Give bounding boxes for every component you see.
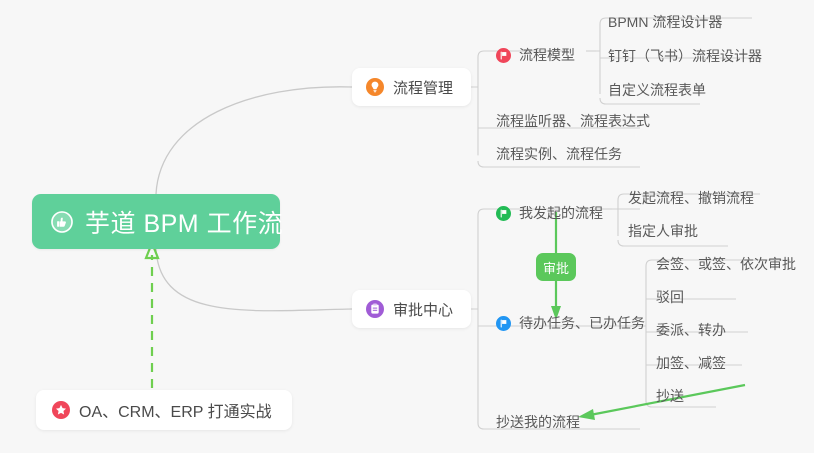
edge-lg-spine [472,57,478,155]
flag-icon [496,48,511,63]
node-label: 驳回 [656,287,684,307]
edge-sz-spine [472,215,478,423]
node-label: 加签、减签 [656,353,726,373]
node-label: 流程实例、流程任务 [496,144,622,164]
node-cc[interactable]: 抄送 [648,383,692,409]
branch-label: 流程管理 [393,77,453,98]
node-label: 抄送我的流程 [496,412,580,432]
node-custom-form[interactable]: 自定义流程表单 [600,77,714,103]
approve-badge: 审批 [536,253,576,281]
node-label: 委派、转办 [656,320,726,340]
node-liucheng-jiantingqi[interactable]: 流程监听器、流程表达式 [488,108,658,134]
node-my-initiated[interactable]: 我发起的流程 [492,200,611,226]
node-label: 发起流程、撤销流程 [628,188,754,208]
node-liucheng-shili[interactable]: 流程实例、流程任务 [488,141,630,167]
node-dingding-designer[interactable]: 钉钉（飞书）流程设计器 [600,43,770,69]
flag-icon [496,316,511,331]
node-label: 抄送 [656,386,684,406]
node-liucheng-moxing[interactable]: 流程模型 [492,42,583,68]
node-label: 待办任务、已办任务 [519,313,645,333]
node-label: 流程模型 [519,45,575,65]
node-label: 自定义流程表单 [608,80,706,100]
branch-liucheng-guanli[interactable]: 流程管理 [352,68,471,106]
branch-shenpi-zhongxin[interactable]: 审批中心 [352,290,471,328]
edge-root-to-shenpi-zhongxin [156,249,352,311]
thumbs-up-icon [50,210,74,234]
node-countersign[interactable]: 会签、或签、依次审批 [648,251,804,277]
node-reject[interactable]: 驳回 [648,284,692,310]
node-delegate-transfer[interactable]: 委派、转办 [648,317,734,343]
note-label: OA、CRM、ERP 打通实战 [79,398,272,422]
note-node[interactable]: OA、CRM、ERP 打通实战 [36,390,292,430]
node-start-cancel-process[interactable]: 发起流程、撤销流程 [620,185,762,211]
edge-wofaqi-spine [612,200,618,236]
root-node[interactable]: 芋道 BPM 工作流 [32,194,280,249]
root-label: 芋道 BPM 工作流 [85,204,283,240]
node-label: BPMN 流程设计器 [608,12,722,32]
star-icon [52,401,70,419]
lightbulb-icon [366,78,384,96]
branch-label: 审批中心 [393,299,453,320]
node-label: 指定人审批 [628,221,698,241]
node-label: 我发起的流程 [519,203,603,223]
node-label: 会签、或签、依次审批 [656,254,796,274]
flag-icon [496,206,511,221]
node-bpmn-designer[interactable]: BPMN 流程设计器 [600,9,730,35]
node-label: 流程监听器、流程表达式 [496,111,650,131]
node-label: 钉钉（飞书）流程设计器 [608,46,762,66]
node-cc-to-me[interactable]: 抄送我的流程 [488,409,588,435]
node-add-remove-sign[interactable]: 加签、减签 [648,350,734,376]
approve-badge-label: 审批 [543,258,569,277]
clipboard-icon [366,300,384,318]
node-todo-done-tasks[interactable]: 待办任务、已办任务 [492,310,653,336]
edge-root-to-liucheng-guanli [156,87,352,194]
mindmap-canvas: 芋道 BPM 工作流 流程管理 审批中心 [0,0,814,453]
node-assignee-approval[interactable]: 指定人审批 [620,218,706,244]
